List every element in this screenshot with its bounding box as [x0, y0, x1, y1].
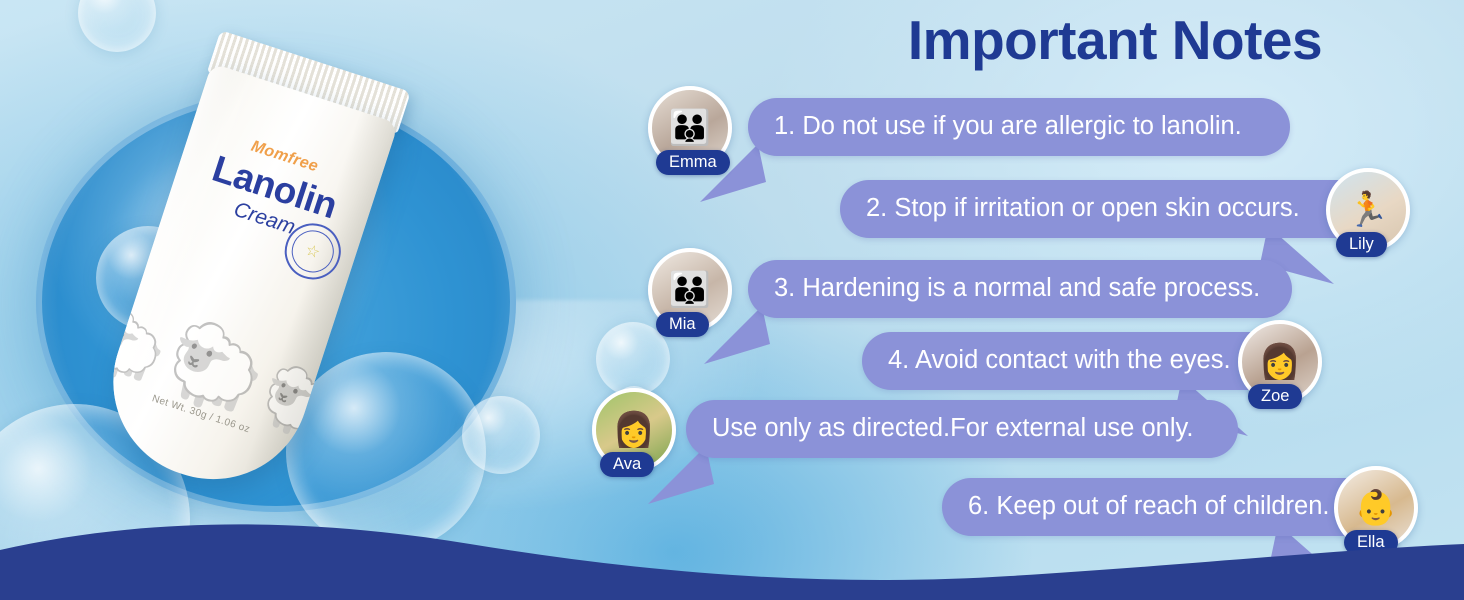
avatar-name-badge: Emma	[656, 150, 730, 175]
avatar-name-badge: Zoe	[1248, 384, 1302, 409]
note-bubble: 1. Do not use if you are allergic to lan…	[748, 98, 1290, 156]
note-bubble: 4. Avoid contact with the eyes.	[862, 332, 1284, 390]
avatar-name: Mia	[669, 315, 696, 334]
avatar-name: Zoe	[1261, 387, 1289, 406]
note-text: 1. Do not use if you are allergic to lan…	[774, 114, 1242, 140]
bottom-wave-decoration	[0, 510, 1464, 600]
note-item: Use only as directed.For external use on…	[592, 388, 1212, 472]
soap-bubble-icon	[462, 396, 540, 474]
note-bubble: 2. Stop if irritation or open skin occur…	[840, 180, 1372, 238]
avatar-name-badge: Mia	[656, 312, 709, 337]
avatar-name-badge: Lily	[1336, 232, 1387, 257]
seal-emblem: ☆	[286, 225, 339, 278]
note-text: 4. Avoid contact with the eyes.	[888, 348, 1231, 374]
marketing-banner: Momfree Lanolin Cream ☆ 🐑🐑🐑 Net Wt. 30g …	[0, 0, 1464, 600]
note-item: 1. Do not use if you are allergic to lan…	[648, 86, 1248, 170]
note-bubble: Use only as directed.For external use on…	[686, 400, 1238, 458]
avatar-name-badge: Ava	[600, 452, 654, 477]
note-text: 2. Stop if irritation or open skin occur…	[866, 196, 1300, 222]
note-text: Use only as directed.For external use on…	[712, 416, 1193, 442]
avatar-name: Lily	[1349, 235, 1374, 254]
note-bubble: 3. Hardening is a normal and safe proces…	[748, 260, 1292, 318]
page-title: Important Notes	[880, 8, 1350, 72]
note-text: 3. Hardening is a normal and safe proces…	[774, 276, 1260, 302]
note-item: 2. Stop if irritation or open skin occur…	[840, 168, 1430, 252]
avatar-name: Ava	[613, 455, 641, 474]
avatar-name: Emma	[669, 153, 717, 172]
